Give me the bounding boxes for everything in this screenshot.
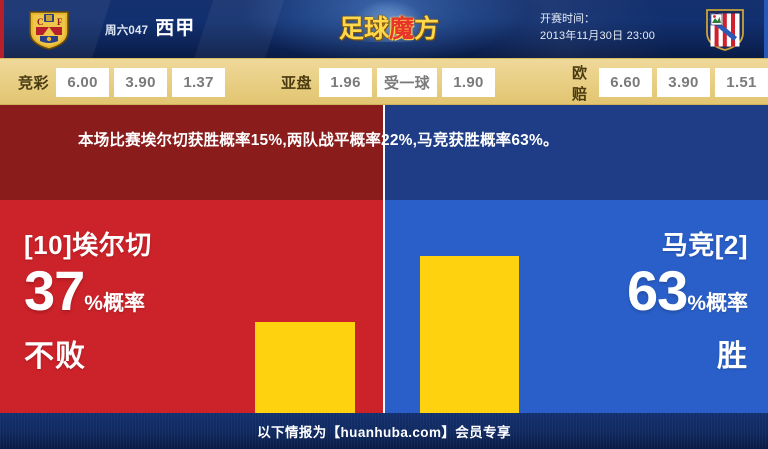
odds-group-jingcai: 竞彩 6.00 3.90 1.37 xyxy=(18,68,225,97)
league-info: 周六047 西甲 xyxy=(105,13,195,40)
odds-cell-away[interactable]: 1.90 xyxy=(442,68,495,97)
header-bar: C F 周六047 西甲 足球魔方 开赛时间： 2013年11月30日 23:0… xyxy=(0,0,768,58)
odds-group-label: 欧赔 xyxy=(572,68,594,97)
odds-cell-away[interactable]: 1.37 xyxy=(172,68,225,97)
panel-divider xyxy=(383,105,385,413)
brand-logo-hot-char: 魔 xyxy=(389,15,414,43)
summary-text: 本场比赛埃尔切获胜概率15%,两队战平概率22%,马竞获胜概率63%。 xyxy=(78,127,718,155)
home-probability-bar xyxy=(255,322,355,413)
brand-logo[interactable]: 足球魔方 xyxy=(333,8,445,50)
away-outcome-label: 胜 xyxy=(627,335,748,379)
kickoff-label: 开赛时间： xyxy=(540,11,655,28)
kickoff-value: 2013年11月30日 23:00 xyxy=(540,28,655,45)
odds-group-asian-handicap: 亚盘 1.96 受一球 1.90 xyxy=(281,68,495,97)
brand-logo-text: 足球魔方 xyxy=(333,10,445,48)
home-probability: 37%概率 xyxy=(24,262,152,335)
away-team-block: 马竞[2] 63%概率 胜 xyxy=(627,228,748,379)
odds-cell-home[interactable]: 1.96 xyxy=(319,68,372,97)
brand-logo-part2: 方 xyxy=(414,15,439,43)
match-prediction-infographic: C F 周六047 西甲 足球魔方 开赛时间： 2013年11月30日 23:0… xyxy=(0,0,768,449)
elche-cf-crest-icon: C F xyxy=(27,8,71,51)
header-left-accent xyxy=(0,0,4,58)
footer-bar: 以下情报为【huanhuba.com】会员专享 xyxy=(0,413,768,449)
away-probability-unit: %概率 xyxy=(687,292,748,315)
svg-text:F: F xyxy=(57,17,63,27)
prediction-chart-area: 本场比赛埃尔切获胜概率15%,两队战平概率22%,马竞获胜概率63%。 [10]… xyxy=(0,105,768,413)
home-probability-unit: %概率 xyxy=(84,292,145,315)
odds-cell-home[interactable]: 6.60 xyxy=(599,68,652,97)
svg-text:C: C xyxy=(37,17,44,27)
footer-text: 以下情报为【huanhuba.com】会员专享 xyxy=(257,421,511,441)
header-right-accent xyxy=(764,0,768,58)
odds-group-label: 竞彩 xyxy=(18,68,51,97)
home-team-name: [10]埃尔切 xyxy=(24,228,152,262)
odds-group-label: 亚盘 xyxy=(281,68,314,97)
odds-cell-home[interactable]: 6.00 xyxy=(56,68,109,97)
away-probability-bar xyxy=(420,256,519,413)
odds-group-european: 欧赔 6.60 3.90 1.51 xyxy=(572,68,768,97)
odds-cell-away[interactable]: 1.51 xyxy=(715,68,768,97)
atletico-madrid-crest-icon xyxy=(704,7,746,52)
league-round-label: 周六047 xyxy=(105,22,148,38)
odds-bar: 竞彩 6.00 3.90 1.37 亚盘 1.96 受一球 1.90 欧赔 6.… xyxy=(0,58,768,105)
odds-cell-draw[interactable]: 3.90 xyxy=(114,68,167,97)
league-name-label: 西甲 xyxy=(155,13,195,40)
away-probability-number: 63 xyxy=(627,259,687,322)
home-outcome-label: 不败 xyxy=(24,335,152,379)
kickoff-time: 开赛时间： 2013年11月30日 23:00 xyxy=(540,11,655,45)
brand-logo-part1: 足球 xyxy=(339,15,389,43)
odds-cell-draw[interactable]: 3.90 xyxy=(657,68,710,97)
home-probability-number: 37 xyxy=(24,259,84,322)
away-probability: 63%概率 xyxy=(627,262,748,335)
odds-cell-handicap[interactable]: 受一球 xyxy=(377,68,437,97)
away-team-name: 马竞[2] xyxy=(627,228,748,262)
home-team-block: [10]埃尔切 37%概率 不败 xyxy=(24,228,152,379)
